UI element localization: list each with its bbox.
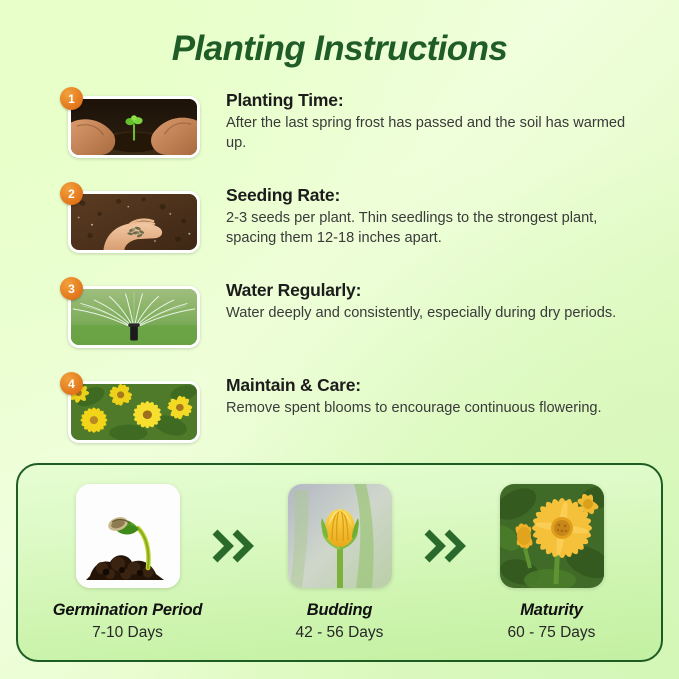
- steps-list: 1: [0, 88, 679, 443]
- step-text: Seeding Rate: 2-3 seeds per plant. Thin …: [226, 183, 655, 248]
- step-text: Water Regularly: Water deeply and consis…: [226, 278, 655, 324]
- step-description: After the last spring frost has passed a…: [226, 114, 644, 153]
- step-number-badge: 4: [60, 372, 83, 395]
- step-item: 2: [68, 183, 655, 253]
- timeline-stage-days: 60 - 75 Days: [508, 624, 596, 642]
- step-description: Remove spent blooms to encourage continu…: [226, 399, 644, 419]
- step-description: 2-3 seeds per plant. Thin seedlings to t…: [226, 209, 644, 248]
- timeline-stage-budding: Budding 42 - 56 Days: [265, 484, 415, 642]
- flower-bud-photo: [288, 484, 392, 588]
- step-heading: Seeding Rate:: [226, 185, 655, 206]
- hands-holding-soil-seedling-photo: [68, 96, 200, 158]
- double-chevron-right-icon: [415, 529, 477, 563]
- double-chevron-right-icon: [203, 529, 265, 563]
- step-thumbnail-wrap: 3: [68, 286, 200, 348]
- sprouting-seed-in-soil-photo: [76, 484, 180, 588]
- step-thumbnail-wrap: 4: [68, 381, 200, 443]
- step-item: 3: [68, 278, 655, 348]
- step-thumbnail-wrap: 1: [68, 96, 200, 158]
- step-heading: Planting Time:: [226, 90, 655, 111]
- step-text: Maintain & Care: Remove spent blooms to …: [226, 373, 655, 419]
- yellow-flowers-bloom-photo: [68, 381, 200, 443]
- step-thumbnail-wrap: 2: [68, 191, 200, 253]
- timeline-stage-germination: Germination Period 7-10 Days: [53, 484, 203, 642]
- step-number-badge: 1: [60, 87, 83, 110]
- timeline-stage-label: Budding: [307, 601, 373, 620]
- step-description: Water deeply and consistently, especiall…: [226, 304, 644, 324]
- timeline-stage-days: 7-10 Days: [92, 624, 163, 642]
- planting-instructions-infographic: Planting Instructions 1: [0, 0, 679, 443]
- lawn-sprinkler-watering-photo: [68, 286, 200, 348]
- step-number-badge: 3: [60, 277, 83, 300]
- step-text: Planting Time: After the last spring fro…: [226, 88, 655, 153]
- step-item: 4: [68, 373, 655, 443]
- timeline-stage-maturity: Maturity 60 - 75 Days: [477, 484, 627, 642]
- growth-timeline-panel: Germination Period 7-10 Days: [16, 463, 663, 662]
- step-heading: Maintain & Care:: [226, 375, 655, 396]
- step-item: 1: [68, 88, 655, 158]
- timeline-stage-days: 42 - 56 Days: [296, 624, 384, 642]
- step-number-badge: 2: [60, 182, 83, 205]
- page-title: Planting Instructions: [0, 0, 679, 66]
- hand-holding-seeds-over-soil-photo: [68, 191, 200, 253]
- step-heading: Water Regularly:: [226, 280, 655, 301]
- timeline-stage-label: Maturity: [520, 601, 583, 620]
- mature-yellow-flower-photo: [500, 484, 604, 588]
- timeline-stage-label: Germination Period: [53, 601, 203, 620]
